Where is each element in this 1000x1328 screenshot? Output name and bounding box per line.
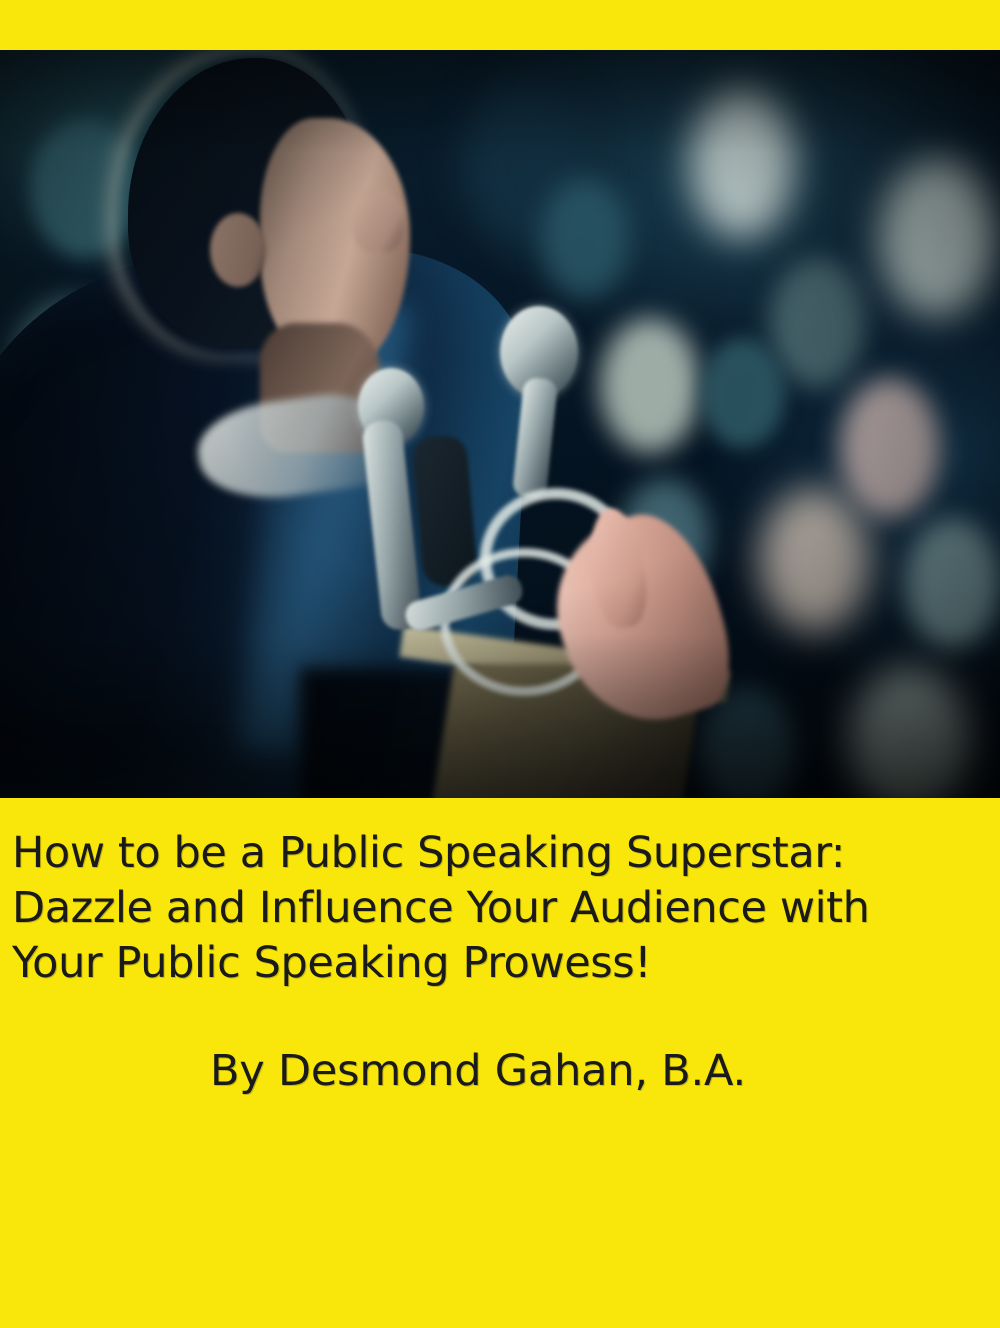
top-yellow-band — [0, 0, 1000, 50]
photo-vignette — [0, 48, 1000, 800]
cover-photograph — [0, 48, 1000, 800]
title-line-3: Your Public Speaking Prowess! — [12, 936, 972, 991]
book-title: How to be a Public Speaking Superstar: D… — [12, 826, 972, 991]
title-line-2: Dazzle and Influence Your Audience with — [12, 881, 972, 936]
author-byline: By Desmond Gahan, B.A. — [210, 1046, 746, 1096]
title-line-1: How to be a Public Speaking Superstar: — [12, 826, 972, 881]
cover-text-panel: How to be a Public Speaking Superstar: D… — [0, 798, 1000, 1328]
book-cover: How to be a Public Speaking Superstar: D… — [0, 0, 1000, 1328]
